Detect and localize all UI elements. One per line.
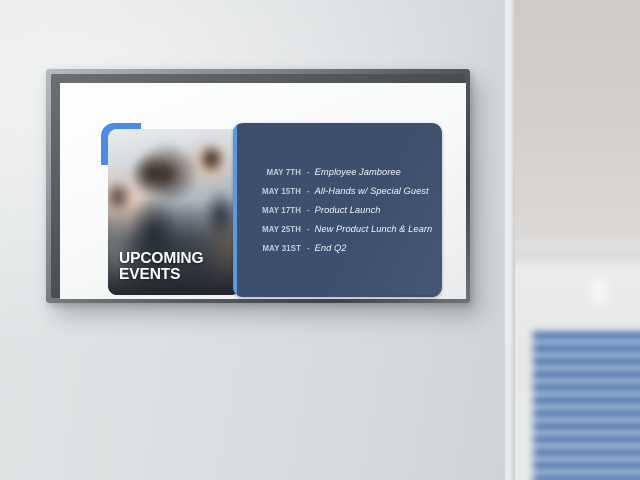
upcoming-events-photo-panel: UPCOMING EVENTS bbox=[108, 129, 240, 295]
event-separator: - bbox=[301, 244, 315, 253]
event-name: End Q2 bbox=[315, 243, 347, 253]
wall-corner-edge bbox=[505, 0, 515, 480]
scene-root: UPCOMING EVENTS MAY 7TH-Employee Jambore… bbox=[0, 0, 640, 480]
sign-screen: UPCOMING EVENTS MAY 7TH-Employee Jambore… bbox=[82, 105, 462, 295]
event-separator: - bbox=[301, 187, 315, 196]
event-date: MAY 17TH bbox=[239, 206, 301, 215]
office-background-scene bbox=[515, 0, 640, 480]
event-row: MAY 15TH-All-Hands w/ Special Guest bbox=[239, 186, 430, 196]
sign-frame: UPCOMING EVENTS MAY 7TH-Employee Jambore… bbox=[46, 69, 470, 303]
sign-frame-bezel: UPCOMING EVENTS MAY 7TH-Employee Jambore… bbox=[51, 74, 465, 298]
event-date: MAY 25TH bbox=[239, 225, 301, 234]
office-ceiling bbox=[515, 0, 640, 272]
event-date: MAY 7TH bbox=[239, 168, 301, 177]
office-blur-layer bbox=[515, 0, 640, 480]
event-row: MAY 31ST-End Q2 bbox=[239, 243, 430, 253]
events-card: MAY 7TH-Employee JamboreeMAY 15TH-All-Ha… bbox=[233, 123, 442, 297]
event-date: MAY 15TH bbox=[239, 187, 301, 196]
event-row: MAY 25TH-New Product Lunch & Learn bbox=[239, 224, 430, 234]
events-list: MAY 7TH-Employee JamboreeMAY 15TH-All-Ha… bbox=[237, 123, 438, 297]
event-name: Product Launch bbox=[315, 205, 381, 215]
event-separator: - bbox=[301, 206, 315, 215]
event-row: MAY 17TH-Product Launch bbox=[239, 205, 430, 215]
event-date: MAY 31ST bbox=[239, 244, 301, 253]
event-separator: - bbox=[301, 168, 315, 177]
event-separator: - bbox=[301, 225, 315, 234]
window-view-building-primary bbox=[533, 332, 640, 480]
event-name: Employee Jamboree bbox=[315, 167, 401, 177]
ceiling-light-icon bbox=[595, 282, 602, 300]
event-row: MAY 7TH-Employee Jamboree bbox=[239, 167, 430, 177]
sign-mat: UPCOMING EVENTS MAY 7TH-Employee Jambore… bbox=[60, 83, 466, 299]
page-title: UPCOMING EVENTS bbox=[119, 251, 203, 283]
event-name: New Product Lunch & Learn bbox=[315, 224, 433, 234]
event-name: All-Hands w/ Special Guest bbox=[315, 186, 429, 196]
